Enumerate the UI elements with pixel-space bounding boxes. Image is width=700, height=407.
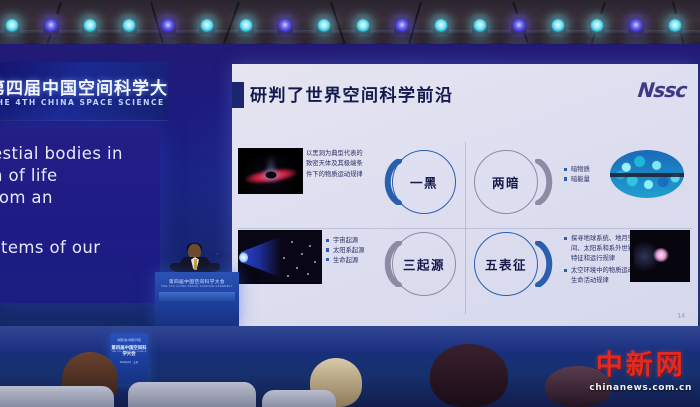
stage-light-bulb — [474, 19, 487, 32]
thumbnail-black-hole — [238, 148, 303, 194]
stage-light — [355, 14, 371, 34]
speaker-head — [188, 244, 201, 259]
arc-two-dark — [535, 159, 557, 205]
slide-page-number: 14 — [677, 313, 685, 320]
audience-chair — [262, 390, 336, 407]
stage-light — [550, 14, 566, 34]
bullet-dark-matter: 暗物质 — [564, 165, 590, 175]
stage-light-bulb — [513, 19, 526, 32]
stage-light-bulb — [84, 19, 97, 32]
stage-light-bulb — [435, 19, 448, 32]
stage-light-bulb — [396, 19, 409, 32]
standee-line-4: 2022年8月 · 太原 — [110, 360, 148, 364]
stage-light — [43, 14, 59, 34]
podium: 第四届中国空间科学大会 THE 4TH CHINA SPACE SCIENCE … — [155, 272, 239, 326]
ring-five-characterizations: 五表征 — [474, 232, 538, 296]
label-one-black: 一黑 — [410, 173, 438, 192]
stage-light-bulb — [123, 19, 136, 32]
speaker-arm-left — [170, 263, 182, 271]
speaker-tie — [194, 259, 197, 270]
thumbnail-deep-space — [630, 230, 690, 282]
title-accent-bar — [232, 82, 244, 108]
stage-light-bulb — [552, 19, 565, 32]
two-dark-bullets: 暗物质 暗能量 — [564, 165, 590, 185]
standee-line-3: THE 4TH CHINA SPACE SCIENCE ASSEMBLY — [110, 351, 148, 355]
stage-light — [277, 14, 293, 34]
stage-light-bulb — [669, 19, 682, 32]
one-black-description: 以黑洞为典型代表的致密天体及其极端条件下的物质运动规律 — [306, 149, 368, 180]
three-origins-bullets: 宇宙起源 太阳系起源 生命起源 — [326, 236, 364, 265]
stage-light-bulb — [591, 19, 604, 32]
watermark-chinese: 中新网 — [589, 343, 692, 382]
stage-light-bulb — [201, 19, 214, 32]
stage-light — [199, 14, 215, 34]
stage-light — [238, 14, 254, 34]
thumbnail-cmb-map — [610, 150, 684, 198]
stage-light — [667, 14, 683, 34]
stage-light-bulb — [279, 19, 292, 32]
podium-text-english: THE 4TH CHINA SPACE SCIENCE ASSEMBLY — [155, 285, 239, 288]
banner-title-english: THE 4TH CHINA SPACE SCIENCE ASSEMBLY — [0, 98, 168, 107]
banner-title-chinese: 第四届中国空间科学大会 — [0, 74, 168, 99]
conference-banner: 第四届中国空间科学大会 THE 4TH CHINA SPACE SCIENCE … — [0, 62, 168, 121]
bullet-life-origin: 生命起源 — [326, 256, 364, 266]
label-five-characterizations: 五表征 — [485, 255, 527, 274]
presentation-slide: 研判了世界空间科学前沿 Nssc 14 以黑洞为典型代表的致密天体及其极端条件下… — [232, 64, 698, 326]
stage-light-bulb — [357, 19, 370, 32]
speaker-arm-right — [208, 263, 220, 271]
stage-light — [628, 14, 644, 34]
stage-light — [511, 14, 527, 34]
watermark-domain: chinanews.com.cn — [589, 383, 692, 393]
stage-light-bulb — [630, 19, 643, 32]
podium-accent-bar — [159, 292, 235, 301]
stage-light — [472, 14, 488, 34]
nssc-logo: Nssc — [636, 78, 687, 102]
stage-light-bulb — [162, 19, 175, 32]
stage-light — [316, 14, 332, 34]
bullet-dark-energy: 暗能量 — [564, 175, 590, 185]
stage-light — [589, 14, 605, 34]
ring-two-dark: 两暗 — [474, 150, 538, 214]
left-panel-line-1: estial bodies in — [0, 144, 123, 163]
audience-chair — [128, 382, 256, 407]
news-watermark: 中新网 chinanews.com.cn — [589, 343, 692, 393]
arc-five-characterizations — [535, 241, 557, 287]
stage-light — [82, 14, 98, 34]
conference-hall-scene: 第四届中国空间科学大会 THE 4TH CHINA SPACE SCIENCE … — [0, 0, 700, 407]
ring-three-origins: 三起源 — [392, 232, 456, 296]
stage-light-bulb — [45, 19, 58, 32]
stage-light — [121, 14, 137, 34]
thumbnail-cosmic-timeline — [238, 230, 322, 284]
stage-light-bulb — [240, 19, 253, 32]
stage-light — [160, 14, 176, 34]
grid-divider-vertical — [465, 142, 466, 314]
left-panel-line-2: n of life — [0, 166, 58, 185]
stage-light — [433, 14, 449, 34]
ring-one-black: 一黑 — [392, 150, 456, 214]
left-panel-line-3: rom an — [0, 188, 53, 207]
stage-light — [394, 14, 410, 34]
stage-light — [4, 14, 20, 34]
left-panel-line-4: stems of our — [0, 238, 100, 257]
stage-light-bulb — [318, 19, 331, 32]
bullet-solar-system-origin: 太阳系起源 — [326, 246, 364, 256]
audience-head — [430, 344, 508, 407]
bullet-universe-origin: 宇宙起源 — [326, 236, 364, 246]
standee-line-1: 中国科协 中国科学院 — [110, 338, 148, 342]
left-projection-panel: estial bodies in n of life rom an stems … — [0, 128, 160, 303]
audience-chair — [0, 386, 114, 407]
stage-light-bulb — [6, 19, 19, 32]
label-two-dark: 两暗 — [492, 173, 520, 192]
slide-title: 研判了世界空间科学前沿 — [250, 81, 454, 106]
label-three-origins: 三起源 — [403, 255, 445, 274]
